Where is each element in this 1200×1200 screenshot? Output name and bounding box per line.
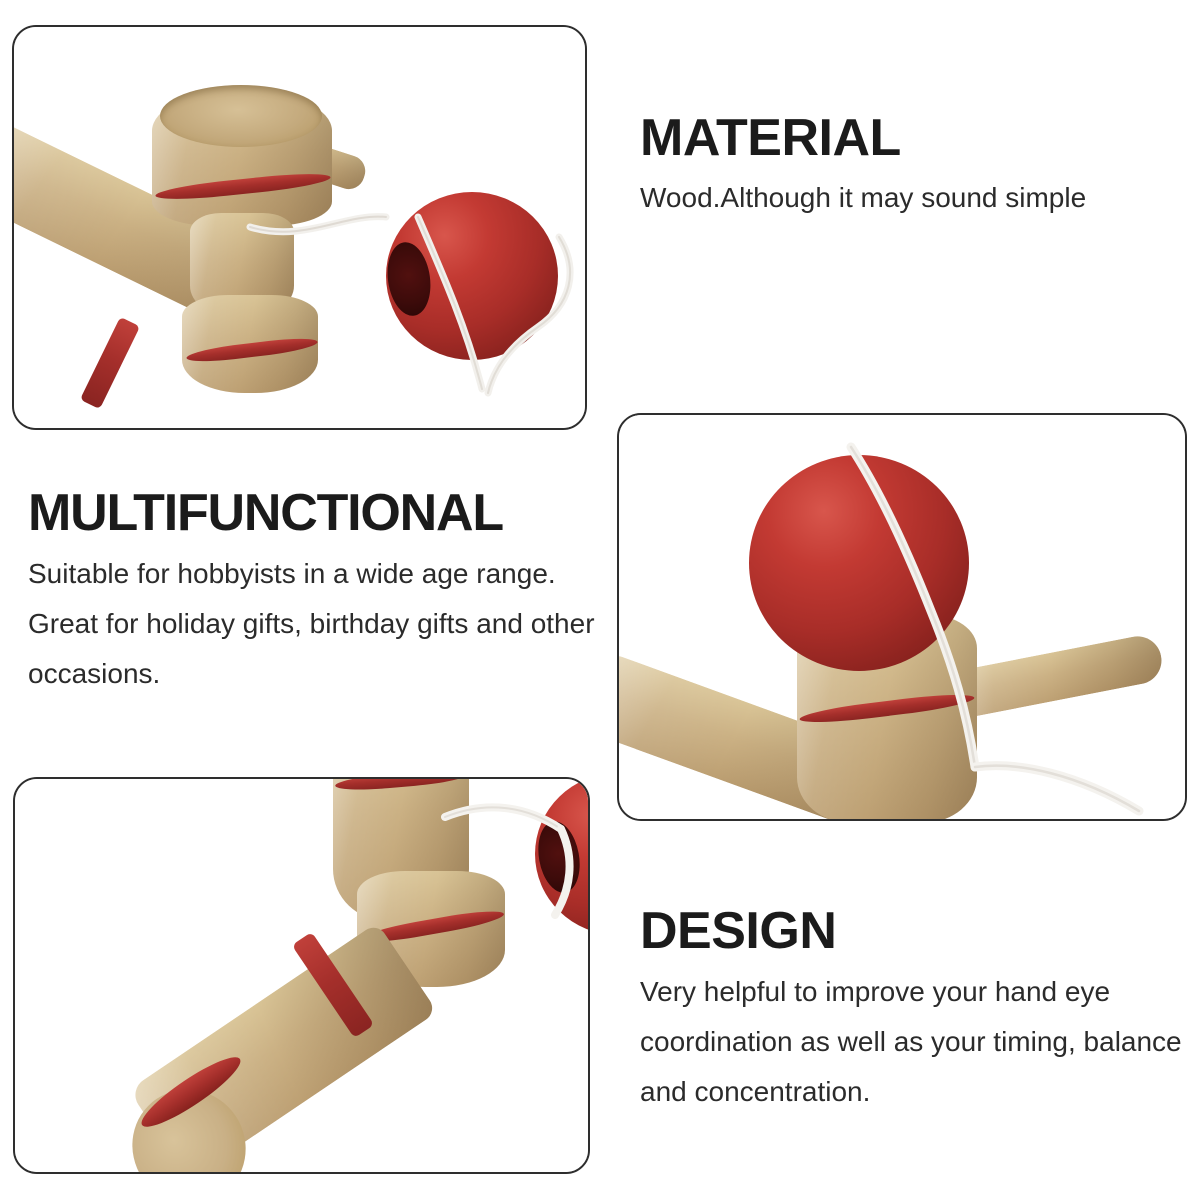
feature-block-material: MATERIAL Wood.Although it may sound simp… — [640, 112, 1185, 222]
feature-heading-design: DESIGN — [640, 905, 1195, 957]
kendama-scene-top-left — [14, 27, 585, 428]
kendama-string — [15, 779, 590, 1174]
product-photo-panel-middle-right — [617, 413, 1187, 821]
feature-body-material: Wood.Although it may sound simple — [640, 174, 1185, 222]
feature-block-multifunctional: MULTIFUNCTIONAL Suitable for hobbyists i… — [28, 487, 628, 698]
product-photo-panel-bottom-left — [13, 777, 590, 1174]
feature-heading-multifunctional: MULTIFUNCTIONAL — [28, 487, 628, 539]
feature-body-design: Very helpful to improve your hand eye co… — [640, 967, 1195, 1116]
kendama-scene-middle-right — [619, 415, 1185, 819]
feature-body-multifunctional: Suitable for hobbyists in a wide age ran… — [28, 549, 628, 698]
product-photo-panel-top-left — [12, 25, 587, 430]
kendama-scene-bottom-left — [15, 779, 588, 1172]
kendama-string — [619, 415, 1187, 821]
kendama-string — [14, 27, 587, 430]
feature-heading-material: MATERIAL — [640, 112, 1185, 164]
feature-block-design: DESIGN Very helpful to improve your hand… — [640, 905, 1195, 1116]
